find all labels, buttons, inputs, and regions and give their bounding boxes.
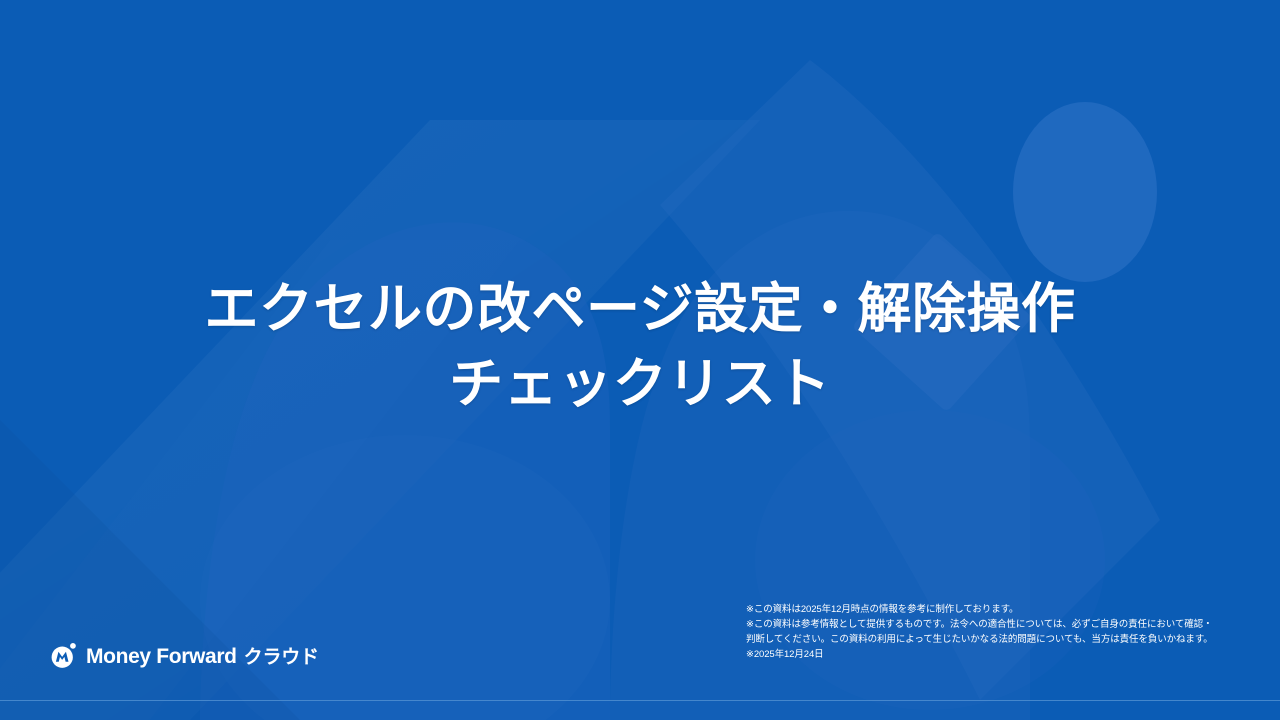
disclaimer-line-4: ※2025年12月24日 (746, 647, 1238, 662)
title-line-2: チェックリスト (80, 347, 1200, 422)
disclaimer-line-2: ※この資料は参考情報として提供するものです。法令への適合性については、必ずご自身… (746, 617, 1238, 632)
disclaimer-text: ※この資料は2025年12月時点の情報を参考に制作しております。 ※この資料は参… (746, 602, 1238, 662)
disclaimer-line-1: ※この資料は2025年12月時点の情報を参考に制作しております。 (746, 602, 1238, 617)
disclaimer-line-3: 判断してください。この資料の利用によって生じたいかなる法的問題についても、当方は… (746, 632, 1238, 647)
money-forward-cloud-logo: Money Forward クラウド (50, 640, 319, 670)
logo-brand-suffix: クラウド (244, 642, 319, 669)
logo-wordmark: Money Forward クラウド (86, 642, 319, 669)
decorative-ellipse (1013, 102, 1157, 282)
logo-brand-name: Money Forward (86, 645, 237, 669)
title-slide: エクセルの改ページ設定・解除操作 チェックリスト ※この資料は2025年12月時… (0, 0, 1280, 720)
title-line-1: エクセルの改ページ設定・解除操作 (80, 272, 1200, 347)
money-forward-m-mark-icon (50, 642, 77, 669)
bottom-divider-rule (0, 700, 1280, 701)
page-title: エクセルの改ページ設定・解除操作 チェックリスト (0, 272, 1280, 421)
